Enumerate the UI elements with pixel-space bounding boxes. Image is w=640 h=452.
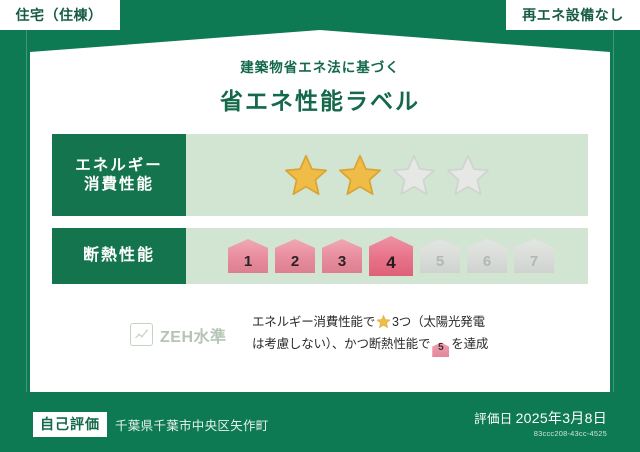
energy-performance-label: エネルギー 消費性能 [52, 134, 186, 216]
footer-left-group: 自己評価 千葉県千葉市中央区矢作町 [33, 412, 269, 437]
evaluation-date-value: 2025年3月8日 [516, 410, 607, 426]
header-block: 建築物省エネ法に基づく 省エネ性能ラベル [0, 56, 640, 116]
insulation-grade-1: 1 [228, 239, 268, 273]
star-empty-icon [391, 152, 437, 198]
zeh-description: エネルギー消費性能で3つ（太陽光発電 は考慮しない）、かつ断熱性能で5を達成 [252, 312, 588, 357]
zeh-desc-part1: エネルギー消費性能で [252, 315, 375, 329]
renewable-equipment-tag: 再エネ設備なし [506, 0, 640, 30]
star-empty-icon [445, 152, 491, 198]
star-filled-icon [337, 152, 383, 198]
insulation-performance-label: 断熱性能 [52, 228, 186, 284]
zeh-mark: ZEH水準 [52, 323, 252, 347]
zeh-standard-row: ZEH水準 エネルギー消費性能で3つ（太陽光発電 は考慮しない）、かつ断熱性能で… [52, 312, 588, 357]
energy-performance-label: 住宅（住棟） 再エネ設備なし 建築物省エネ法に基づく 省エネ性能ラベル エネルギ… [0, 0, 640, 452]
insulation-performance-row: 断熱性能 1234567 [52, 228, 588, 284]
insulation-grade-4: 4 [369, 236, 413, 276]
insulation-grade-7: 7 [514, 239, 554, 273]
label-subtitle: 建築物省エネ法に基づく [0, 56, 640, 76]
zeh-chart-icon [130, 323, 153, 346]
star-rating [283, 152, 491, 198]
energy-performance-row: エネルギー 消費性能 [52, 134, 588, 216]
insulation-grade-3: 3 [322, 239, 362, 273]
self-evaluation-badge: 自己評価 [33, 412, 107, 437]
property-address: 千葉県千葉市中央区矢作町 [115, 415, 269, 434]
evaluation-id: 83ccc208-43cc-4525 [474, 429, 607, 438]
insulation-grade-2: 2 [275, 239, 315, 273]
energy-label-line1: エネルギー [75, 156, 163, 175]
insulation-grade-scale: 1234567 [186, 228, 588, 284]
star-filled-icon [283, 152, 329, 198]
building-type-tag: 住宅（住棟） [0, 0, 120, 30]
zeh-desc-part2: 3つ（太陽光発電 [392, 315, 485, 329]
zeh-desc-part3: は考慮しない）、かつ断熱性能で [252, 337, 430, 351]
evaluation-date: 評価日2025年3月8日 [474, 408, 607, 428]
footer-right-group: 評価日2025年3月8日 83ccc208-43cc-4525 [474, 408, 607, 438]
evaluation-date-label: 評価日 [474, 412, 512, 426]
insulation-grade-5: 5 [420, 239, 460, 273]
insulation-grade-6: 6 [467, 239, 507, 273]
page-title: 省エネ性能ラベル [0, 82, 640, 116]
zeh-desc-part4: を達成 [451, 337, 488, 351]
inline-grade-badge: 5 [432, 342, 449, 357]
label-footer: 自己評価 千葉県千葉市中央区矢作町 評価日2025年3月8日 83ccc208-… [0, 400, 640, 452]
inline-star-icon [376, 314, 391, 329]
zeh-mark-label: ZEH水準 [160, 323, 227, 347]
energy-label-line2: 消費性能 [84, 175, 154, 194]
energy-rating-body [186, 134, 588, 216]
